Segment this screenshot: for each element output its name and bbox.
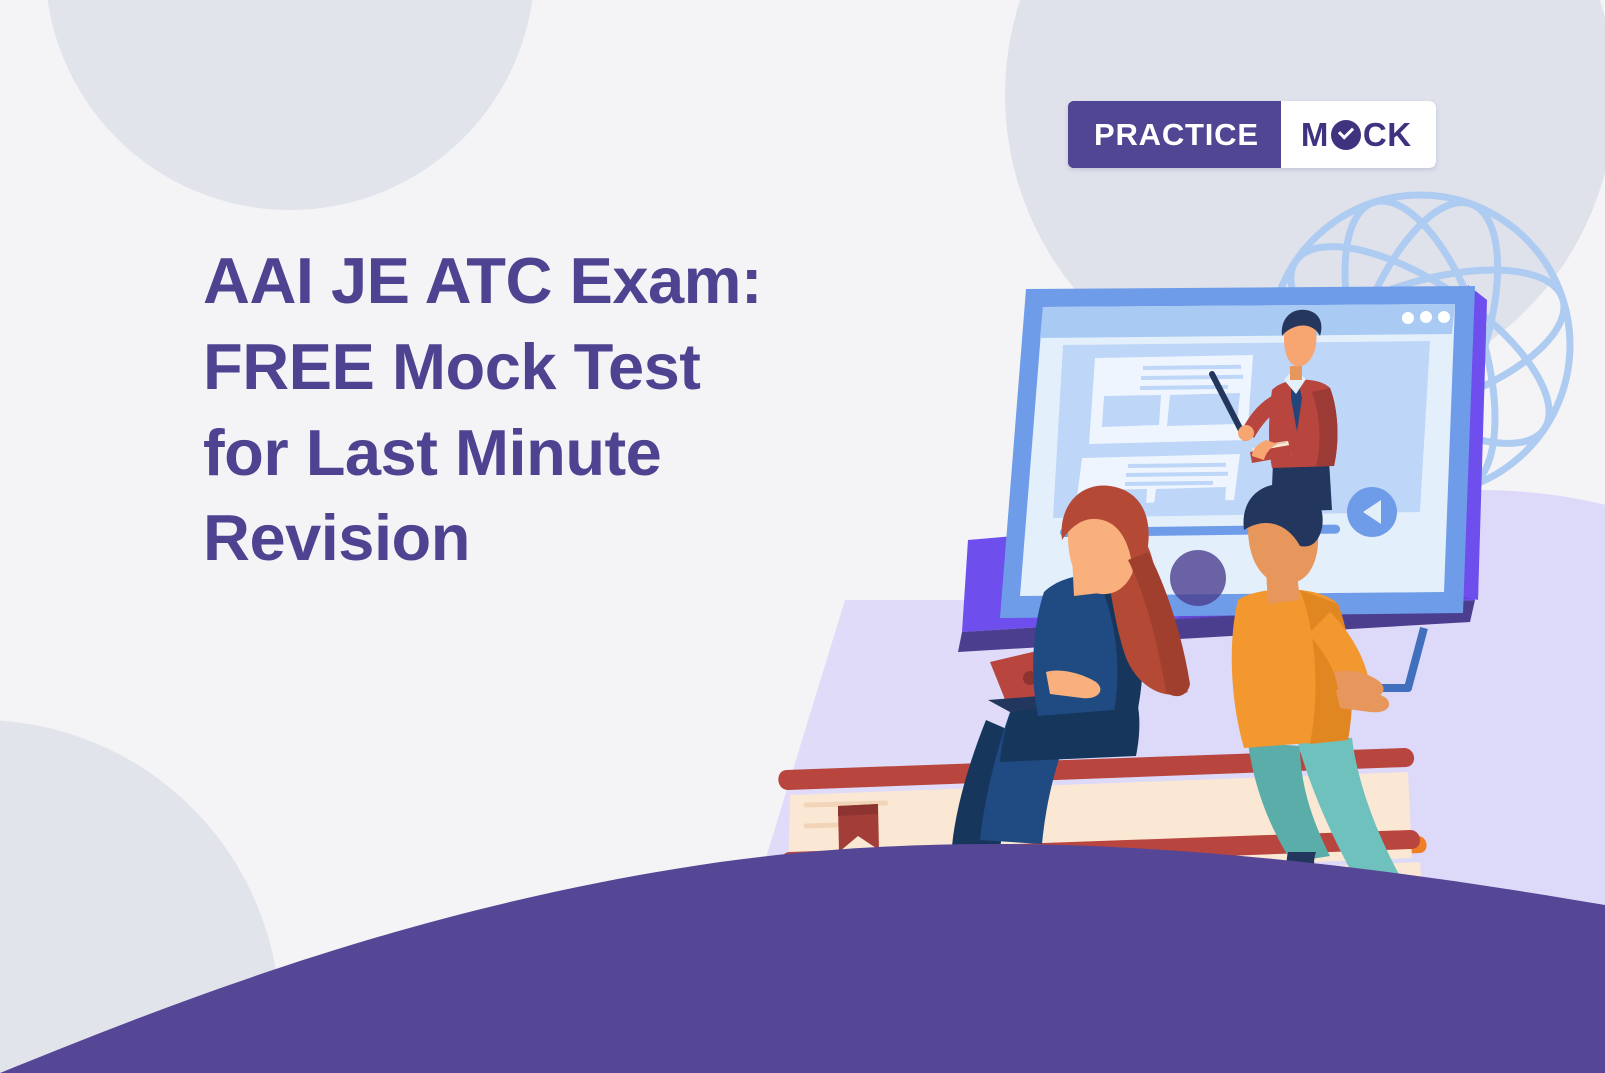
headline-line-3: for Last Minute — [203, 410, 843, 496]
play-button — [1347, 487, 1397, 537]
headline-line-4: Revision — [203, 495, 843, 581]
page-title: AAI JE ATC Exam: FREE Mock Test for Last… — [203, 238, 843, 581]
window-dot-1 — [1402, 312, 1414, 324]
logo-word-mock: MCK — [1281, 101, 1436, 168]
teacher-hand-right — [1238, 425, 1254, 441]
promotional-banner: AAI JE ATC Exam: FREE Mock Test for Last… — [0, 0, 1605, 1073]
logo-word-practice: PRACTICE — [1068, 101, 1281, 168]
check-icon — [1331, 120, 1361, 150]
practice-mock-logo[interactable]: PRACTICE MCK — [1068, 101, 1436, 168]
tilted-monitor — [958, 285, 1487, 652]
logo-mock-m: M — [1301, 116, 1329, 154]
window-dot-3 — [1438, 311, 1450, 323]
window-dot-2 — [1420, 311, 1432, 323]
logo-mock-ck: CK — [1363, 116, 1412, 154]
window-title-bar — [1040, 304, 1455, 338]
headline-line-2: FREE Mock Test — [203, 324, 843, 410]
shadow-ball — [1170, 550, 1226, 606]
bottom-purple-hill — [0, 844, 1605, 1073]
headline-line-1: AAI JE ATC Exam: — [203, 238, 843, 324]
